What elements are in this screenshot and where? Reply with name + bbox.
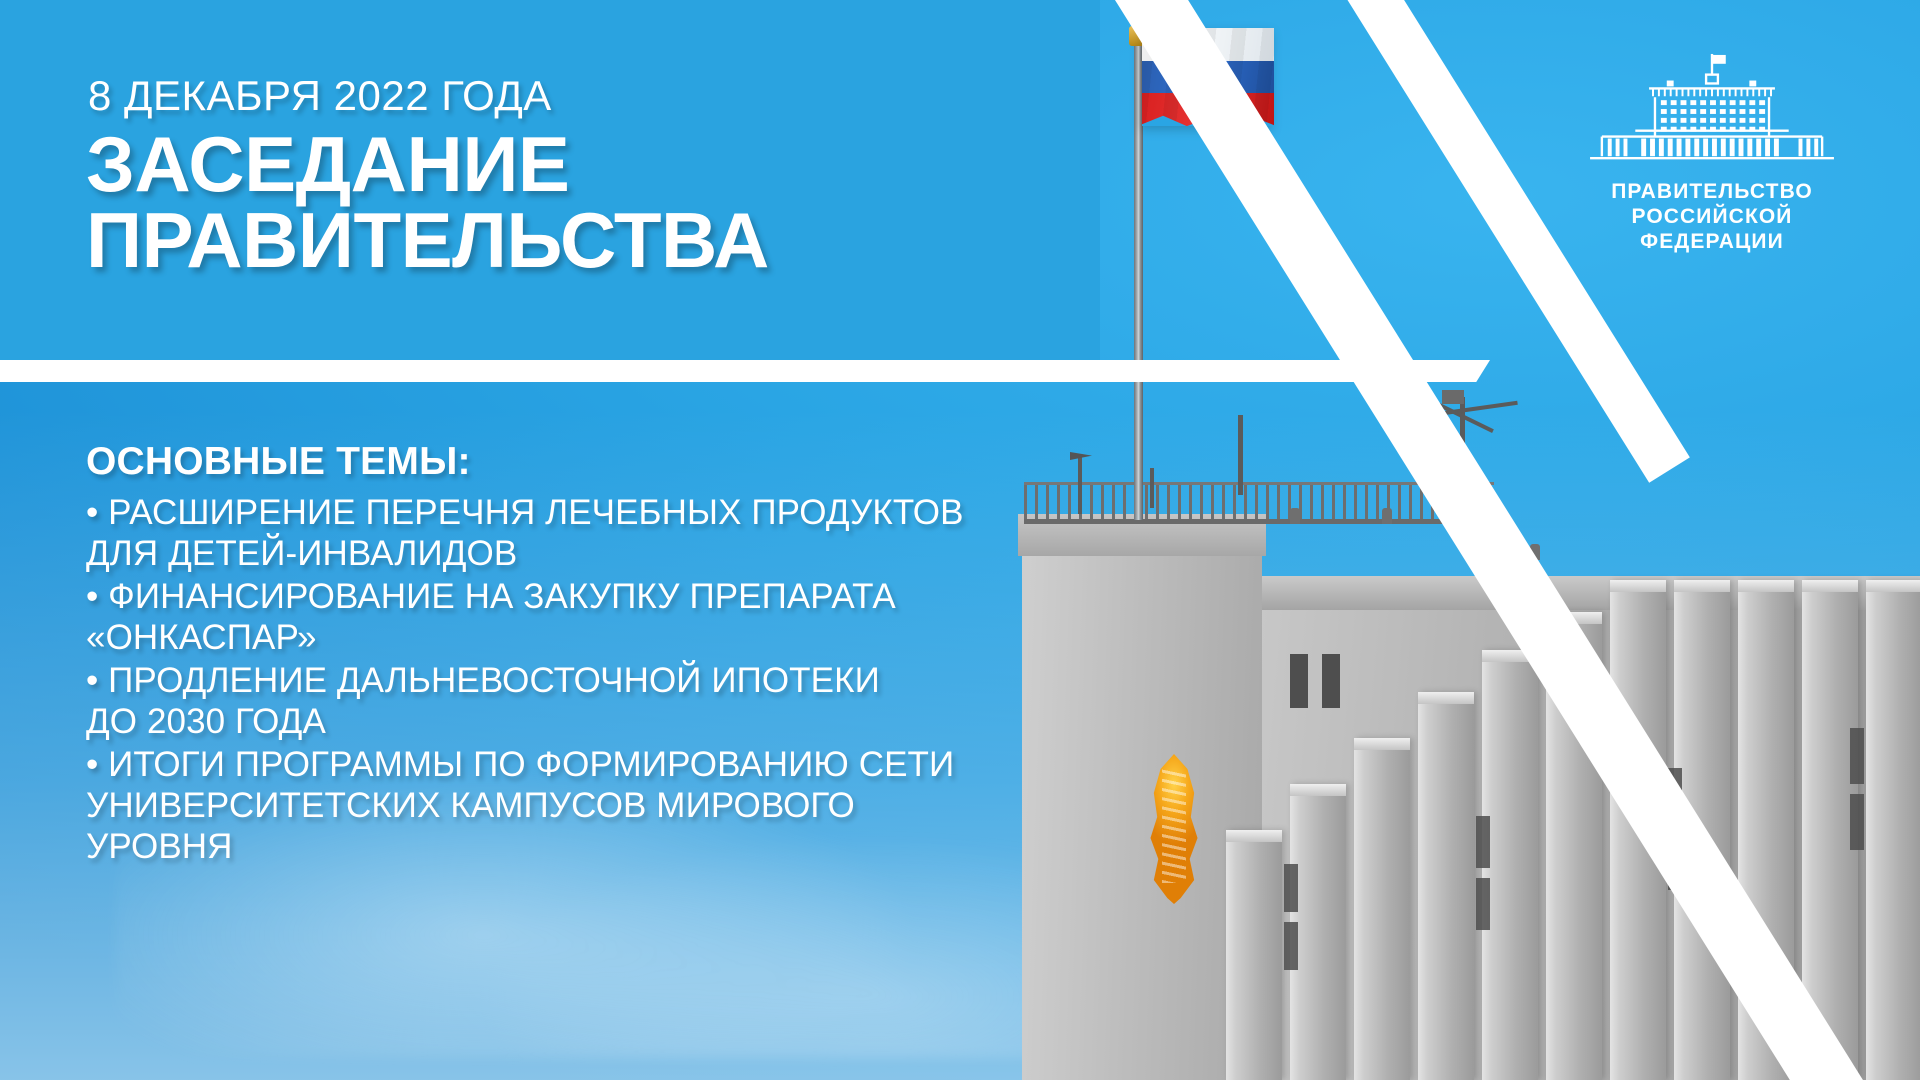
building-window [1476, 816, 1490, 868]
poster-canvas: 8 ДЕКАБРЯ 2022 ГОДА ЗАСЕДАНИЕ ПРАВИТЕЛЬС… [0, 0, 1920, 1080]
logo-caption-line-1: ПРАВИТЕЛЬСТВО [1578, 179, 1846, 204]
government-logo: ПРАВИТЕЛЬСТВО РОССИЙСКОЙ ФЕДЕРАЦИИ [1578, 52, 1846, 254]
building-window-column [1850, 728, 1864, 850]
building-pilaster-group [1226, 520, 1920, 1080]
building-window [1284, 864, 1298, 912]
page-title-line-1: ЗАСЕДАНИЕ [86, 126, 769, 202]
topic-item: • ИТОГИ ПРОГРАММЫ ПО ФОРМИРОВАНИЮ СЕТИ У… [86, 744, 986, 867]
government-logo-caption: ПРАВИТЕЛЬСТВО РОССИЙСКОЙ ФЕДЕРАЦИИ [1578, 179, 1846, 254]
main-topics-heading: ОСНОВНЫЕ ТЕМЫ: [86, 440, 986, 484]
logo-caption-line-3: ФЕДЕРАЦИИ [1578, 229, 1846, 254]
roof-antenna-small-2-icon [1150, 468, 1154, 508]
building-window [1850, 794, 1864, 850]
building-pilaster [1418, 692, 1474, 1080]
building-pilaster [1226, 830, 1282, 1080]
building-window [1284, 922, 1298, 970]
page-title-line-2: ПРАВИТЕЛЬСТВА [86, 202, 769, 278]
building-window-column [1476, 816, 1490, 930]
logo-caption-line-2: РОССИЙСКОЙ [1578, 204, 1846, 229]
topic-item: • РАСШИРЕНИЕ ПЕРЕЧНЯ ЛЕЧЕБНЫХ ПРОДУКТОВ … [86, 492, 986, 574]
building-pilaster [1482, 650, 1538, 1080]
building-window [1476, 878, 1490, 930]
government-house-icon [1578, 52, 1846, 170]
building-pilaster [1354, 738, 1410, 1080]
emblem-highlight [1162, 769, 1187, 883]
building-window-column [1284, 864, 1298, 970]
event-date: 8 ДЕКАБРЯ 2022 ГОДА [88, 72, 552, 120]
header-divider-bar [0, 360, 1230, 382]
building-pilaster [1866, 580, 1920, 1080]
main-topics-block: ОСНОВНЫЕ ТЕМЫ: • РАСШИРЕНИЕ ПЕРЕЧНЯ ЛЕЧЕ… [86, 440, 986, 869]
building-pilaster [1290, 784, 1346, 1080]
weather-vane-body-icon [1442, 390, 1464, 404]
building-window [1850, 728, 1864, 784]
topic-item: • ФИНАНСИРОВАНИЕ НА ЗАКУПКУ ПРЕПАРАТА «О… [86, 576, 986, 658]
roof-antenna-small-icon [1078, 456, 1082, 514]
page-title: ЗАСЕДАНИЕ ПРАВИТЕЛЬСТВА [86, 126, 769, 278]
roof-mast-icon [1238, 415, 1243, 495]
topic-item: • ПРОДЛЕНИЕ ДАЛЬНЕВОСТОЧНОЙ ИПОТЕКИ ДО 2… [86, 660, 986, 742]
